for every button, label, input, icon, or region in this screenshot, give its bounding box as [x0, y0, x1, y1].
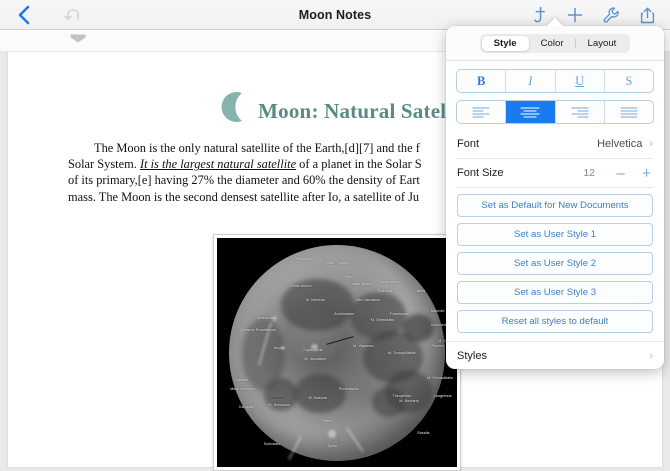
align-justify-icon	[618, 106, 640, 118]
style-actions: Set as Default for New Documents Set as …	[446, 194, 664, 342]
moon-label: Campus	[239, 405, 253, 409]
body-line-2b: of a planet in the Solar S	[296, 157, 422, 171]
moon-label: Aristarchus	[258, 316, 277, 320]
moon-label: Macrobi	[431, 309, 444, 313]
strikethrough-button[interactable]: S	[605, 70, 653, 92]
crescent-moon-icon	[218, 90, 252, 124]
moon-label: Gassendi	[269, 396, 285, 400]
add-plus-icon	[566, 6, 584, 24]
moon-label: Mts Caucasus	[356, 298, 380, 302]
moon-label: Plato	[345, 275, 354, 279]
page-title: Moon: Natural Satell	[258, 99, 452, 123]
moon-label: Mare Frigoris	[326, 261, 348, 265]
moon-label: Sinus Iridum	[290, 284, 311, 288]
moon-label: Philolaus	[296, 257, 311, 261]
mare-nubium	[294, 374, 346, 413]
moon-label: Posidonius	[390, 312, 409, 316]
font-size-decrease-button[interactable]: –	[614, 166, 627, 181]
body-line-4: mass. The Moon is the second densest sat…	[68, 190, 419, 204]
moon-label: Archimedes	[334, 312, 354, 316]
moon-image: PhilolausMare FrigorisPlatoVallis AlpesA…	[217, 238, 457, 467]
moon-label: M. Nubium	[309, 396, 327, 400]
align-right-icon	[569, 106, 591, 118]
share-button[interactable]	[630, 1, 664, 29]
moon-label: Aristoteles	[381, 280, 399, 284]
font-size-increase-button[interactable]: +	[640, 166, 653, 181]
italic-button[interactable]: I	[506, 70, 555, 92]
moon-label: Pitatus	[322, 419, 334, 423]
set-default-new-documents-button[interactable]: Set as Default for New Documents	[457, 194, 653, 217]
format-popup: Style Color Layout B I U S	[446, 26, 664, 369]
moon-label: Eudoxus	[378, 289, 393, 293]
crater-tycho	[328, 430, 336, 438]
text-format-icon	[532, 5, 547, 25]
align-right-button[interactable]	[556, 101, 605, 123]
moon-label: Oceanus Procellarum	[240, 328, 276, 332]
font-value-group: Helvetica ›	[597, 138, 653, 150]
popup-tabs: Style Color Layout	[446, 26, 664, 61]
styles-chevron-right-icon: ›	[649, 350, 653, 362]
body-line-2a: Solar System.	[68, 157, 140, 171]
moon-label: Atlas	[417, 289, 426, 293]
moon-label: M. Serenitatis	[371, 318, 394, 322]
moon-label: M. Humorum	[269, 403, 291, 407]
tab-layout[interactable]: Layout	[576, 36, 629, 51]
moon-label: Langrenus	[434, 394, 452, 398]
align-center-icon	[519, 106, 541, 118]
set-user-style-2-button[interactable]: Set as User Style 2	[457, 252, 653, 275]
moon-label: M. Tranquillitatis	[388, 351, 416, 355]
font-size-controls: 12 – +	[583, 166, 653, 181]
moon-label: M. Fecunditatis	[427, 376, 453, 380]
body-line-3: of its primary,[e] having 27% the diamet…	[68, 173, 420, 187]
segmented-control: Style Color Layout	[480, 34, 631, 53]
alignment-buttons	[456, 100, 654, 124]
align-left-button[interactable]	[457, 101, 506, 123]
chevron-right-icon: ›	[649, 138, 653, 150]
moon-label: Schickard	[264, 442, 281, 446]
align-left-icon	[470, 106, 492, 118]
moon-label: Proclus	[431, 344, 444, 348]
tycho-ray-2	[347, 428, 364, 452]
moon-label: Ptolemaeus	[339, 387, 359, 391]
moon-label: M. Imbrium	[306, 298, 325, 302]
font-size-row: Font Size 12 – +	[457, 159, 653, 188]
font-size-label: Font Size	[457, 167, 503, 179]
moon-label: Tycho	[327, 444, 337, 448]
font-size-value: 12	[583, 167, 595, 179]
tab-style[interactable]: Style	[482, 36, 529, 51]
font-value: Helvetica	[597, 138, 642, 150]
moon-label: M. Vaporum	[353, 344, 373, 348]
moon-label: Mare Humorum	[230, 387, 256, 391]
wrench-tools-icon	[602, 6, 621, 25]
popup-pointer-arrow	[546, 18, 564, 27]
moon-label: M. Nectaris	[399, 399, 418, 403]
styles-row[interactable]: Styles ›	[457, 342, 653, 369]
body-emphasis: It is the largest natural satellite	[140, 157, 296, 171]
set-user-style-3-button[interactable]: Set as User Style 3	[457, 281, 653, 304]
moon-image-frame[interactable]: PhilolausMare FrigorisPlatoVallis AlpesA…	[213, 234, 461, 471]
body-paragraph-lead: The Moon is the only natural satellite o…	[68, 141, 420, 155]
underline-button[interactable]: U	[556, 70, 605, 92]
font-label: Font	[457, 138, 479, 150]
moon-label: Sirsalis	[417, 431, 429, 435]
font-row[interactable]: Font Helvetica ›	[457, 130, 653, 159]
moon-label: M. Insularum	[304, 357, 326, 361]
align-center-button[interactable]	[506, 101, 555, 123]
bold-button[interactable]: B	[457, 70, 506, 92]
styles-label: Styles	[457, 350, 487, 362]
moon-label: Vallis Alpes	[351, 282, 370, 286]
reset-all-styles-button[interactable]: Reset all styles to default	[457, 310, 653, 333]
indent-marker-icon[interactable]	[70, 34, 86, 43]
tab-color[interactable]: Color	[529, 36, 576, 51]
text-style-buttons: B I U S	[456, 69, 654, 93]
align-justify-button[interactable]	[605, 101, 653, 123]
moon-label: Copernicus	[303, 348, 322, 352]
mare-crisium	[402, 314, 434, 342]
font-size-stepper: – +	[614, 166, 653, 181]
moon-label: Theophilus	[393, 394, 412, 398]
label-leader-line	[327, 336, 354, 344]
tycho-ray-1	[288, 436, 302, 460]
share-export-icon	[639, 6, 656, 25]
moon-label: Kepler	[274, 346, 285, 350]
set-user-style-1-button[interactable]: Set as User Style 1	[457, 223, 653, 246]
moon-label: Grimaldi	[234, 378, 248, 382]
tools-button[interactable]	[594, 1, 628, 29]
